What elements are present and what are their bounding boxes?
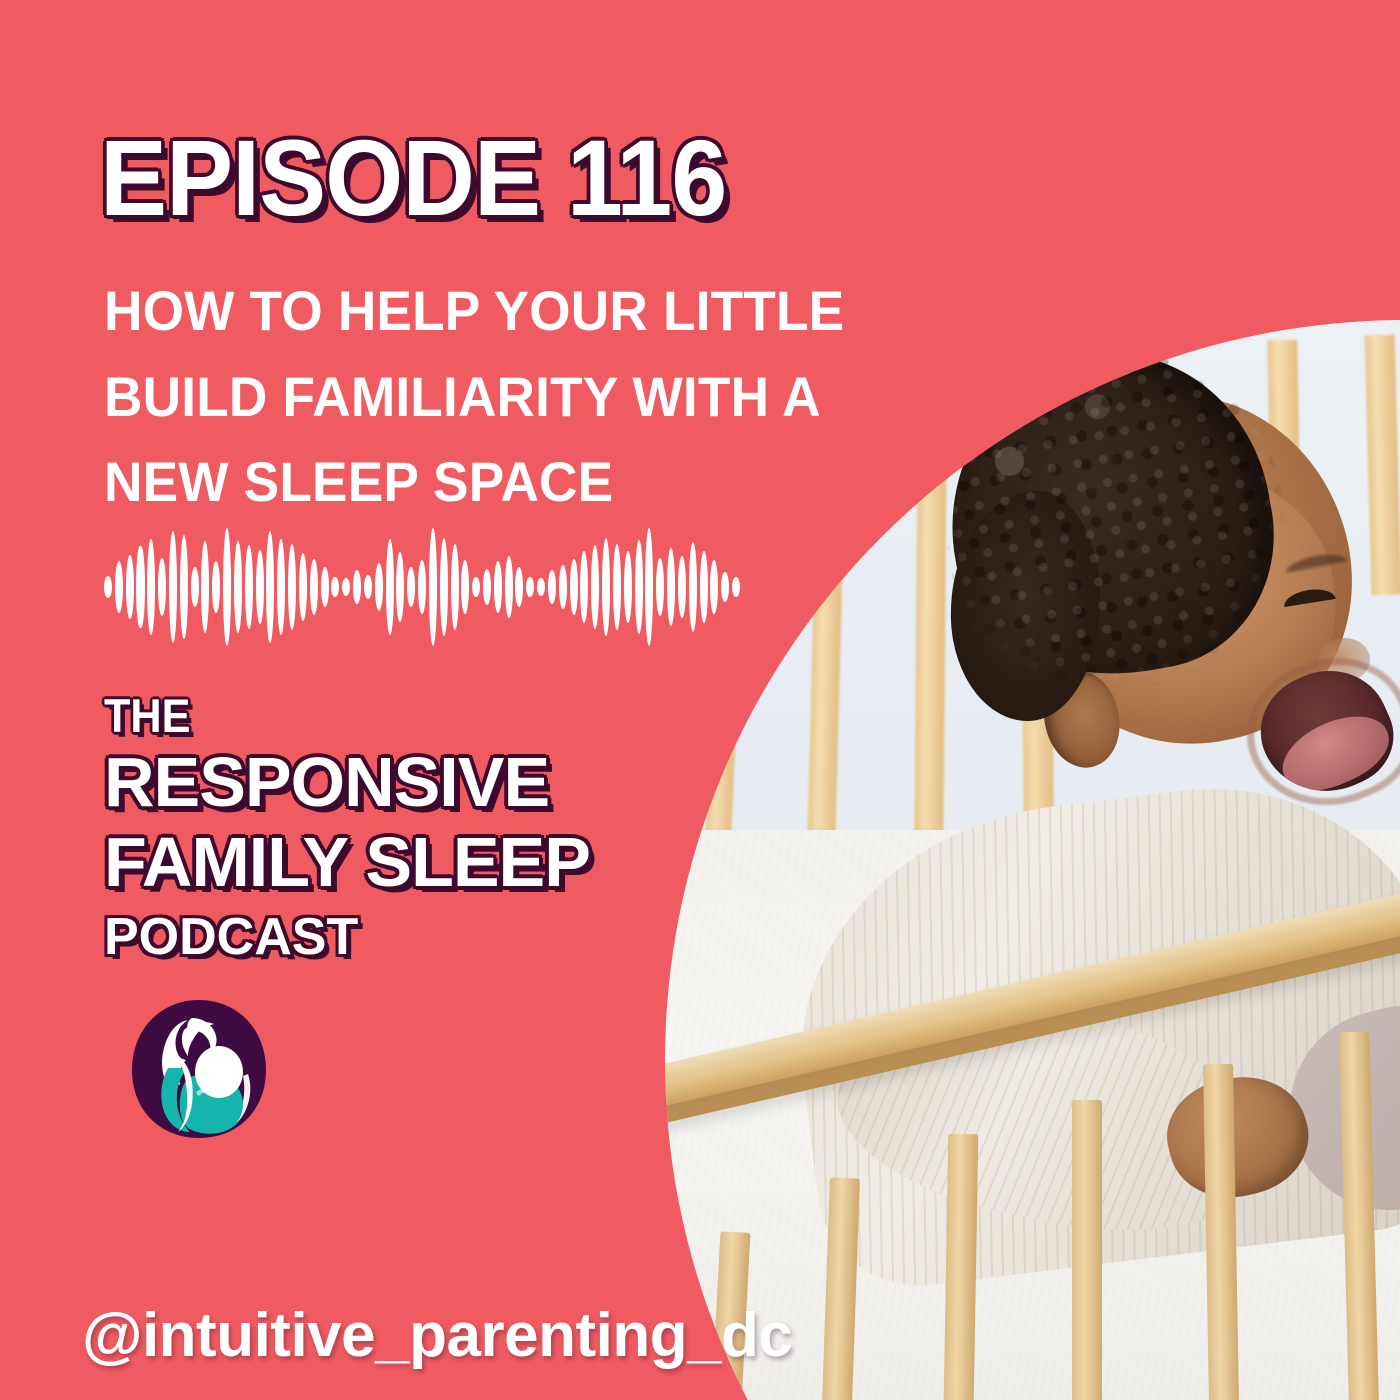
waveform-bar	[299, 553, 307, 621]
waveform-bar	[321, 567, 329, 607]
waveform-bar	[451, 544, 459, 630]
waveform-bar	[418, 560, 426, 614]
waveform-bar	[212, 561, 220, 613]
waveform-bar	[678, 556, 686, 618]
waveform-bar	[602, 538, 610, 636]
waveform-bar	[256, 550, 264, 624]
waveform-bar	[158, 558, 166, 616]
waveform-bar	[310, 559, 318, 615]
waveform-bar	[700, 551, 708, 623]
episode-title: EPISODE 116	[100, 124, 726, 232]
social-handle: @intuitive_parenting_dc	[82, 1300, 792, 1371]
waveform-bar	[386, 539, 394, 635]
waveform-bar	[515, 567, 523, 607]
waveform-bar	[342, 578, 350, 596]
episode-subtitle: HOW TO HELP YOUR LITTLE BUILD FAMILIARIT…	[104, 268, 864, 525]
waveform-bar	[201, 541, 209, 633]
waveform-bar	[645, 528, 653, 646]
waveform-bar	[126, 555, 134, 619]
waveform-bar	[191, 567, 199, 607]
waveform-bar	[721, 572, 729, 602]
waveform-bar	[710, 560, 718, 614]
waveform-bar	[635, 540, 643, 634]
waveform-bar	[548, 570, 556, 604]
waveform-bar	[180, 535, 188, 639]
waveform-bar	[136, 546, 144, 628]
podcast-cover-art: EPISODE 116 HOW TO HELP YOUR LITTLE BUIL…	[0, 0, 1400, 1400]
waveform-bar	[364, 575, 372, 599]
waveform-bar	[396, 552, 404, 622]
waveform-bar	[461, 560, 469, 614]
waveform-bar	[732, 577, 740, 597]
waveform-bar	[537, 578, 545, 596]
waveform-bar	[483, 569, 491, 605]
waveform-bar	[266, 531, 274, 643]
waveform-bar	[375, 563, 383, 611]
waveform-bar	[223, 528, 231, 646]
content-layer: EPISODE 116 HOW TO HELP YOUR LITTLE BUIL…	[0, 0, 1400, 1400]
brand-line-family-sleep: FAMILY SLEEP	[104, 825, 590, 899]
audio-waveform-graphic	[104, 528, 744, 646]
waveform-bar	[288, 544, 296, 630]
waveform-bar	[559, 565, 567, 609]
brand-line-responsive: RESPONSIVE	[104, 745, 590, 819]
waveform-bar	[526, 577, 534, 597]
brand-the: THE	[104, 692, 551, 739]
waveform-bar	[331, 577, 339, 597]
waveform-bar	[115, 561, 123, 613]
waveform-bar	[656, 558, 664, 616]
waveform-bar	[245, 545, 253, 629]
subtitle-line: NEW SLEEP SPACE	[104, 439, 864, 525]
waveform-bar	[169, 531, 177, 643]
waveform-bar	[613, 544, 621, 630]
waveform-bar	[472, 577, 480, 597]
waveform-bar	[505, 556, 513, 618]
waveform-bar	[591, 545, 599, 629]
waveform-bar	[440, 538, 448, 636]
subtitle-line: BUILD FAMILIARITY WITH A	[104, 354, 864, 440]
waveform-bar	[494, 561, 502, 613]
waveform-bar	[277, 539, 285, 635]
waveform-bar	[407, 567, 415, 607]
podcast-title-block: THE RESPONSIVE FAMILY SLEEP PODCAST	[104, 692, 590, 963]
waveform-bar	[667, 548, 675, 626]
waveform-bar	[580, 551, 588, 623]
waveform-bar	[624, 551, 632, 623]
waveform-bar	[429, 528, 437, 646]
brand-podcast: PODCAST	[104, 911, 590, 963]
waveform-bar	[570, 559, 578, 615]
waveform-bar	[147, 539, 155, 635]
mother-and-baby-logo	[126, 996, 272, 1142]
waveform-bar	[234, 541, 242, 633]
waveform-bar	[689, 542, 697, 632]
waveform-bar	[104, 576, 112, 598]
waveform-bar	[353, 570, 361, 604]
subtitle-line: HOW TO HELP YOUR LITTLE	[104, 268, 864, 354]
